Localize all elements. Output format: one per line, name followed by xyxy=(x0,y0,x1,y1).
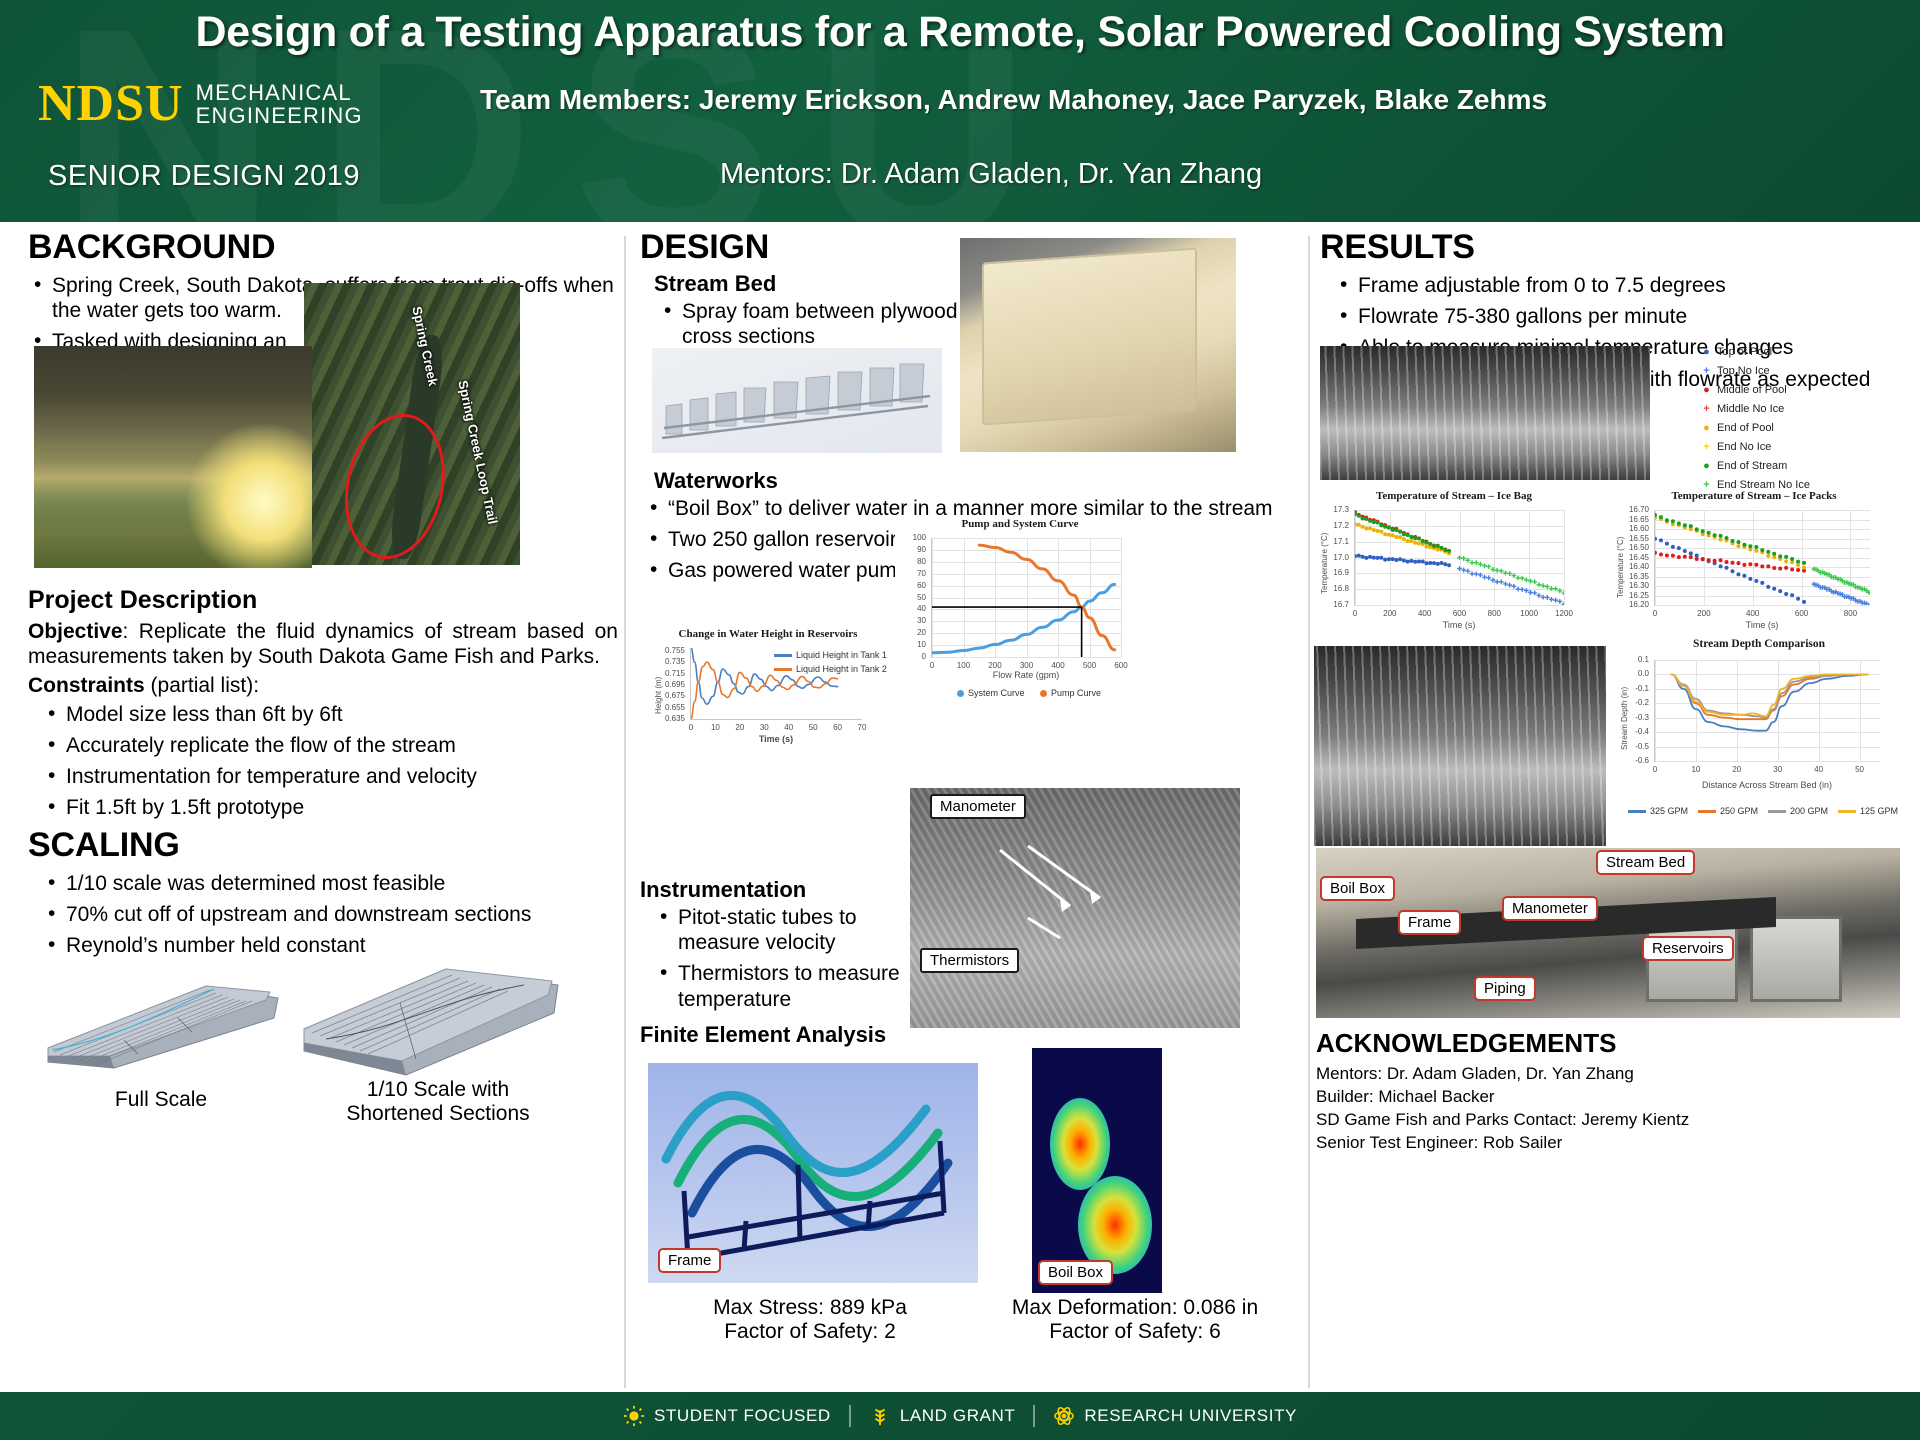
course-label: SENIOR DESIGN 2019 xyxy=(48,160,360,193)
fea-boil-box-render: Boil Box xyxy=(1032,1048,1162,1293)
data-point xyxy=(1355,554,1357,558)
fea-heading: Finite Element Analysis xyxy=(640,1022,1300,1048)
legend-label: System Curve xyxy=(968,688,1025,698)
data-point xyxy=(1355,522,1357,526)
data-point xyxy=(1736,572,1740,576)
data-point xyxy=(1754,579,1758,583)
data-point xyxy=(1383,525,1387,529)
objective-paragraph: Objective: Replicate the fluid dynamics … xyxy=(28,619,618,670)
y-tick-label: 16.65 xyxy=(1629,515,1649,524)
y-tick-label: 16.9 xyxy=(1333,568,1349,577)
data-point xyxy=(1499,580,1504,585)
data-point xyxy=(1443,548,1447,552)
data-point xyxy=(1784,592,1788,596)
legend-swatch xyxy=(774,668,792,671)
full-scale-model-render xyxy=(38,956,288,1081)
data-point xyxy=(1736,540,1740,544)
list-item: Spray foam between plywood cross section… xyxy=(658,299,958,349)
y-tick-label: -0.4 xyxy=(1635,727,1649,736)
column-divider-right xyxy=(1308,236,1310,1388)
data-point xyxy=(1474,560,1479,565)
y-tick-label: -0.6 xyxy=(1635,756,1649,765)
legend-row: +End No Ice xyxy=(1702,441,1810,453)
data-point xyxy=(1383,532,1387,536)
chart-series-layer xyxy=(1655,660,1880,761)
data-point xyxy=(1659,553,1663,557)
chart-temperature-ice-bag: Temperature of Stream – Ice Bag 16.716.8… xyxy=(1314,490,1594,640)
stress-hotspot-upper xyxy=(1050,1098,1110,1190)
data-point xyxy=(1655,537,1657,541)
data-point xyxy=(1424,545,1428,549)
data-point xyxy=(1760,548,1764,552)
y-tick-label: 16.7 xyxy=(1333,600,1349,609)
data-point xyxy=(1482,575,1487,580)
fea-frame-render: Frame xyxy=(648,1063,978,1283)
data-point xyxy=(1557,588,1562,593)
y-tick-label: 16.45 xyxy=(1629,553,1649,562)
water-splash-texture xyxy=(1314,646,1606,846)
data-point xyxy=(1545,595,1550,600)
legend-swatch xyxy=(1698,810,1716,813)
x-tick-label: 0 xyxy=(682,723,700,732)
acknowledgements-heading: ACKNOWLEDGEMENTS xyxy=(1316,1028,1900,1059)
y-tick-label: 70 xyxy=(917,569,926,578)
data-point xyxy=(1541,595,1546,600)
data-point xyxy=(1695,557,1699,561)
data-point xyxy=(1736,544,1740,548)
y-axis-label: Stream Depth (in) xyxy=(1620,687,1629,750)
data-point xyxy=(1507,583,1512,588)
x-tick-label: 50 xyxy=(804,723,822,732)
project-description-block: Project Description Objective: Replicate… xyxy=(28,580,618,827)
y-axis-label: Temperature (°C) xyxy=(1320,533,1329,594)
y-tick-label: 16.60 xyxy=(1629,524,1649,533)
instrumentation-photo: Manometer Thermistors xyxy=(910,788,1240,1028)
data-point xyxy=(1665,553,1669,557)
data-point xyxy=(1655,513,1657,517)
data-point xyxy=(1683,523,1687,527)
gridline xyxy=(1655,605,1870,606)
data-point xyxy=(1443,562,1447,566)
poster-header: Design of a Testing Apparatus for a Remo… xyxy=(0,0,1920,222)
data-point xyxy=(1677,555,1681,559)
x-tick-label: 1000 xyxy=(1520,609,1538,618)
chart-title: Stream Depth Comparison xyxy=(1616,638,1902,650)
x-axis-label: Time (s) xyxy=(1654,620,1870,630)
chart-title: Temperature of Stream – Ice Packs xyxy=(1608,490,1900,502)
legend-entry-325gpm: 325 GPM xyxy=(1628,806,1688,816)
callout-frame: Frame xyxy=(1398,910,1461,935)
data-point xyxy=(1376,521,1380,525)
tenth-scale-caption-line1: 1/10 Scale with xyxy=(318,1078,558,1102)
data-point xyxy=(1361,525,1365,529)
data-point xyxy=(1802,566,1806,570)
data-point xyxy=(1790,568,1794,572)
team-members: Team Members: Jeremy Erickson, Andrew Ma… xyxy=(480,84,1547,116)
data-point xyxy=(1766,554,1770,558)
data-point xyxy=(1736,561,1740,565)
data-point xyxy=(1406,533,1410,537)
data-point xyxy=(1772,587,1776,591)
legend-label: Middle No Ice xyxy=(1717,403,1784,415)
data-point xyxy=(1499,569,1504,574)
y-tick-label: 16.55 xyxy=(1629,534,1649,543)
data-point xyxy=(1409,539,1413,543)
data-point xyxy=(1391,533,1395,537)
data-point xyxy=(1387,557,1391,561)
data-point xyxy=(1511,573,1516,578)
data-point xyxy=(1421,539,1425,543)
callout-manometer: Manometer xyxy=(930,794,1026,819)
data-point xyxy=(1655,551,1657,555)
data-point xyxy=(1511,584,1516,589)
data-point xyxy=(1796,597,1800,601)
data-point xyxy=(1440,546,1444,550)
data-point xyxy=(1725,560,1729,564)
x-tick-label: 1200 xyxy=(1555,609,1573,618)
foam-stream-bed-photo xyxy=(960,238,1236,452)
legend-entry-250gpm: 250 GPM xyxy=(1698,806,1758,816)
y-tick-label: 100 xyxy=(913,533,926,542)
callout-boil-box: Boil Box xyxy=(1038,1260,1113,1285)
legend-label: 200 GPM xyxy=(1790,806,1828,816)
data-point xyxy=(1394,558,1398,562)
data-point xyxy=(1778,554,1782,558)
ack-line: Builder: Michael Backer xyxy=(1316,1086,1900,1109)
x-tick-label: 0 xyxy=(923,661,941,670)
data-point xyxy=(1537,582,1542,587)
data-point xyxy=(1689,524,1693,528)
y-tick-label: 0.1 xyxy=(1638,655,1649,664)
poster-root: Design of a Testing Apparatus for a Remo… xyxy=(0,0,1920,1440)
marker-dot-icon: ● xyxy=(1702,460,1711,472)
data-point xyxy=(1409,535,1413,539)
marker-plus-icon: + xyxy=(1702,441,1711,453)
list-item: Model size less than 6ft by 6ft xyxy=(42,702,618,727)
gridline xyxy=(1564,510,1565,605)
dept-line-1: MECHANICAL xyxy=(196,81,363,104)
data-point xyxy=(1557,599,1562,604)
x-tick-label: 100 xyxy=(955,661,973,670)
data-point xyxy=(1677,546,1681,550)
foam-slab xyxy=(982,248,1197,426)
legend-label: End of Pool xyxy=(1717,422,1774,434)
y-tick-label: 80 xyxy=(917,557,926,566)
legend-label: Liquid Height in Tank 2 xyxy=(796,664,887,674)
legend-entry-tank2: Liquid Height in Tank 2 xyxy=(774,664,887,674)
data-point xyxy=(1432,544,1436,548)
stream-running-photo xyxy=(1320,346,1650,480)
data-point xyxy=(1398,535,1402,539)
scaling-block: SCALING 1/10 scale was determined most f… xyxy=(28,826,618,965)
legend-label: Middle of Pool xyxy=(1717,384,1787,396)
x-tick-label: 400 xyxy=(1744,609,1762,618)
gridline xyxy=(932,657,1121,658)
legend-label: Pump Curve xyxy=(1051,688,1101,698)
chart-title: Pump and System Curve xyxy=(895,518,1145,530)
data-point xyxy=(1742,563,1746,567)
callout-boil-box: Boil Box xyxy=(1320,876,1395,901)
x-axis-label: Distance Across Stream Bed (in) xyxy=(1654,780,1880,790)
data-point xyxy=(1707,558,1711,562)
chart-title: Temperature of Stream – Ice Bag xyxy=(1314,490,1594,502)
legend-label: 250 GPM xyxy=(1720,806,1758,816)
data-point xyxy=(1421,559,1425,563)
data-point xyxy=(1719,538,1723,542)
legend-label: Liquid Height in Tank 1 xyxy=(796,650,887,660)
data-point xyxy=(1465,569,1470,574)
data-point xyxy=(1503,582,1508,587)
x-axis-label: Flow Rate (gpm) xyxy=(931,670,1121,680)
data-point xyxy=(1802,600,1806,604)
data-point xyxy=(1784,559,1788,563)
data-point xyxy=(1436,548,1440,552)
x-tick-label: 600 xyxy=(1112,661,1130,670)
data-point xyxy=(1532,590,1537,595)
legend-marker xyxy=(957,690,964,697)
data-point xyxy=(1428,561,1432,565)
y-tick-label: 16.35 xyxy=(1629,572,1649,581)
results-heading: RESULTS xyxy=(1320,228,1900,267)
waterfall-test-photo xyxy=(1314,646,1606,846)
data-point xyxy=(1754,549,1758,553)
photo-annotation-arrows xyxy=(910,788,1240,1028)
data-point xyxy=(1413,560,1417,564)
data-point xyxy=(1719,564,1723,568)
footer-item-student-focused: STUDENT FOCUSED xyxy=(623,1405,831,1427)
data-point xyxy=(1465,558,1470,563)
data-point xyxy=(1689,555,1693,559)
data-point xyxy=(1778,589,1782,593)
data-point xyxy=(1398,557,1402,561)
callout-manometer: Manometer xyxy=(1502,896,1598,921)
gridline xyxy=(1655,761,1880,762)
ribs-svg xyxy=(652,348,942,453)
data-point xyxy=(1748,562,1752,566)
data-point xyxy=(1368,526,1372,530)
footer-divider xyxy=(849,1405,851,1427)
x-tick-label: 0 xyxy=(1346,609,1364,618)
y-tick-label: 0.0 xyxy=(1638,669,1649,678)
y-tick-label: 16.25 xyxy=(1629,591,1649,600)
data-point xyxy=(1424,561,1428,565)
constraints-note: (partial list): xyxy=(145,674,259,697)
data-point xyxy=(1665,518,1669,522)
data-point xyxy=(1447,563,1451,567)
legend-entry-125gpm: 125 GPM xyxy=(1838,806,1898,816)
legend-entry-pump-curve: Pump Curve xyxy=(1040,688,1101,698)
x-tick-label: 0 xyxy=(1646,765,1664,774)
data-point xyxy=(1486,575,1491,580)
legend-row: ●End of Stream xyxy=(1702,460,1810,472)
data-point xyxy=(1357,514,1361,518)
x-tick-label: 50 xyxy=(1851,765,1869,774)
map-label-loop-trail: Spring Creek Loop Trail xyxy=(455,379,500,526)
data-point xyxy=(1742,574,1746,578)
data-point xyxy=(1689,551,1693,555)
data-point xyxy=(1545,584,1550,589)
chart-title: Change in Water Height in Reservoirs xyxy=(648,628,888,640)
x-tick-label: 40 xyxy=(780,723,798,732)
data-point xyxy=(1357,554,1361,558)
data-point xyxy=(1701,529,1705,533)
data-point xyxy=(1562,602,1564,605)
data-point xyxy=(1772,566,1776,570)
fea-boilbox-caption-line2: Factor of Safety: 6 xyxy=(970,1320,1300,1344)
column-design: DESIGN Stream Bed Spray foam between ply… xyxy=(640,228,1300,412)
y-tick-label: 40 xyxy=(917,604,926,613)
x-tick-label: 0 xyxy=(1646,609,1664,618)
data-point xyxy=(1495,568,1500,573)
tenth-scale-model-render xyxy=(296,951,566,1086)
footer-label: STUDENT FOCUSED xyxy=(654,1406,831,1426)
chart-pump-and-system-curve: Pump and System Curve 010203040506070809… xyxy=(895,518,1145,703)
background-heading: BACKGROUND xyxy=(28,228,618,267)
data-point xyxy=(1719,558,1723,562)
full-scale-caption: Full Scale xyxy=(66,1088,256,1112)
full-apparatus-photo: Boil Box Frame Manometer Stream Bed Rese… xyxy=(1316,848,1900,1018)
data-point xyxy=(1406,539,1410,543)
y-tick-label: 16.20 xyxy=(1629,600,1649,609)
x-tick-label: 60 xyxy=(829,723,847,732)
data-point xyxy=(1402,532,1406,536)
legend-label: Top of Pool xyxy=(1717,346,1772,358)
legend-marker xyxy=(1040,690,1047,697)
data-point xyxy=(1772,552,1776,556)
x-tick-label: 600 xyxy=(1793,609,1811,618)
data-point xyxy=(1372,556,1376,560)
constraints-list: Model size less than 6ft by 6ft Accurate… xyxy=(28,702,618,821)
data-point xyxy=(1537,593,1542,598)
legend-label: 125 GPM xyxy=(1860,806,1898,816)
legend-swatch xyxy=(1768,810,1786,813)
data-point xyxy=(1766,564,1770,568)
dept-line-2: ENGINEERING xyxy=(196,104,363,127)
data-point xyxy=(1428,542,1432,546)
data-point xyxy=(1432,561,1436,565)
column-divider-left xyxy=(624,236,626,1388)
data-point xyxy=(1754,545,1758,549)
data-point xyxy=(1796,560,1800,564)
data-point xyxy=(1730,569,1734,573)
data-point xyxy=(1440,561,1444,565)
marker-dot-icon: ● xyxy=(1702,346,1711,358)
data-point xyxy=(1790,593,1794,597)
list-item: 70% cut off of upstream and downstream s… xyxy=(42,902,618,927)
data-point xyxy=(1361,555,1365,559)
y-tick-label: 17.3 xyxy=(1333,505,1349,514)
data-point xyxy=(1457,566,1462,571)
chart-stream-depth-comparison: Stream Depth Comparison 0.10.0-0.1-0.2-0… xyxy=(1616,638,1902,843)
data-point xyxy=(1364,517,1368,521)
data-point xyxy=(1376,556,1380,560)
data-point xyxy=(1394,535,1398,539)
list-item: Thermistors to measure temperature xyxy=(654,961,904,1011)
x-tick-label: 400 xyxy=(1049,661,1067,670)
ack-line: SD Game Fish and Parks Contact: Jeremy K… xyxy=(1316,1109,1900,1132)
chart-series-layer xyxy=(1655,510,1870,605)
data-point xyxy=(1742,543,1746,547)
fea-frame-caption-line2: Factor of Safety: 2 xyxy=(640,1320,980,1344)
data-point xyxy=(1413,541,1417,545)
data-point xyxy=(1391,528,1395,532)
constraints-label: Constraints xyxy=(28,674,145,697)
data-point xyxy=(1457,555,1462,560)
acknowledgements-block: ACKNOWLEDGEMENTS Mentors: Dr. Adam Glade… xyxy=(1316,1028,1900,1155)
x-tick-label: 20 xyxy=(1728,765,1746,774)
legend-swatch xyxy=(774,654,792,657)
gridline xyxy=(1121,538,1122,657)
marker-plus-icon: + xyxy=(1702,403,1711,415)
scaling-bullets: 1/10 scale was determined most feasible … xyxy=(28,871,618,959)
data-point xyxy=(1695,553,1699,557)
chart-temperature-ice-packs: Temperature of Stream – Ice Packs 16.201… xyxy=(1608,490,1900,640)
data-point xyxy=(1772,555,1776,559)
stream-bed-cad-render xyxy=(652,348,942,453)
y-tick-label: 17.1 xyxy=(1333,537,1349,546)
legend-row: +Middle No Ice xyxy=(1702,403,1810,415)
data-point xyxy=(1541,583,1546,588)
data-point xyxy=(1677,522,1681,526)
data-point xyxy=(1478,573,1483,578)
data-point xyxy=(1784,566,1788,570)
y-axis-label: Height (m) xyxy=(654,677,663,714)
data-point xyxy=(1802,561,1806,565)
data-point xyxy=(1725,566,1729,570)
x-tick-label: 70 xyxy=(853,723,871,732)
data-point xyxy=(1665,542,1669,546)
sun-icon xyxy=(623,1405,645,1427)
x-tick-label: 800 xyxy=(1841,609,1859,618)
footer-divider xyxy=(1033,1405,1035,1427)
footer-item-research-university: RESEARCH UNIVERSITY xyxy=(1053,1405,1297,1427)
y-tick-label: 16.8 xyxy=(1333,584,1349,593)
legend-entry-200gpm: 200 GPM xyxy=(1768,806,1828,816)
legend-label: Top No Ice xyxy=(1717,365,1770,377)
data-point xyxy=(1713,559,1717,563)
list-item: Flowrate 75-380 gallons per minute xyxy=(1334,304,1900,329)
data-point xyxy=(1417,537,1421,541)
data-point xyxy=(1748,577,1752,581)
list-item: Fit 1.5ft by 1.5ft prototype xyxy=(42,795,618,820)
data-point xyxy=(1387,526,1391,530)
y-tick-label: 17.0 xyxy=(1333,553,1349,562)
data-point xyxy=(1778,567,1782,571)
data-point xyxy=(1379,556,1383,560)
y-tick-label: 60 xyxy=(917,581,926,590)
data-point xyxy=(1766,550,1770,554)
data-point xyxy=(1368,519,1372,523)
marker-dot-icon: ● xyxy=(1702,422,1711,434)
y-tick-label: -0.3 xyxy=(1635,713,1649,722)
data-point xyxy=(1524,577,1529,582)
full-scale-svg xyxy=(38,956,288,1081)
sensor-legend: ●Top of Pool +Top No Ice ●Middle of Pool… xyxy=(1702,346,1810,498)
data-point xyxy=(1549,586,1554,591)
x-tick-label: 10 xyxy=(1687,765,1705,774)
data-point xyxy=(1713,533,1717,537)
data-point xyxy=(1528,579,1533,584)
data-point xyxy=(1478,562,1483,567)
data-point xyxy=(1368,555,1372,559)
y-tick-label: 0 xyxy=(922,652,926,661)
callout-stream-bed: Stream Bed xyxy=(1596,850,1695,875)
y-tick-label: 16.30 xyxy=(1629,581,1649,590)
data-point xyxy=(1507,571,1512,576)
series-line-system-curve xyxy=(932,584,1115,652)
legend-entry-tank1: Liquid Height in Tank 1 xyxy=(774,650,887,660)
y-tick-label: 0.755 xyxy=(665,646,685,655)
